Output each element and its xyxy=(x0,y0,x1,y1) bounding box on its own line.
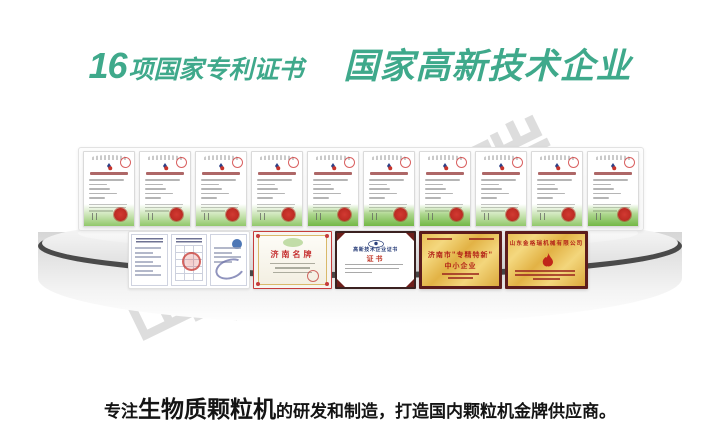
cert-crest-icon xyxy=(160,160,171,171)
cert-title-bar xyxy=(594,172,632,175)
cert-crest-icon xyxy=(384,160,395,171)
patent-certificate xyxy=(531,151,583,227)
jinan-emblem-icon xyxy=(283,238,303,247)
flame-logo-icon xyxy=(538,250,556,268)
cert-signature-icon xyxy=(91,213,107,220)
cert-signature-icon xyxy=(315,213,331,220)
company-plaque-footer xyxy=(515,270,578,282)
cert-title-bar xyxy=(146,172,184,175)
cert-signature-icon xyxy=(259,213,275,220)
tagline: 专注生物质颗粒机的研发和制造，打造国内颗粒机金牌供应商。 xyxy=(0,390,720,424)
hitech-title: 高新技术企业证书 xyxy=(337,246,414,253)
cert-red-seal-icon xyxy=(450,208,463,221)
cert-title-bar xyxy=(370,172,408,175)
plaque-top-lines xyxy=(427,238,494,240)
award-shelf: 济南名牌 高新技术企业证书 证书 济南市"专 xyxy=(128,231,588,289)
cert-signature-icon xyxy=(203,213,219,220)
award-company-plaque: 山东金格瑞机械有限公司 xyxy=(505,231,588,289)
hitech-corner-ornament xyxy=(406,233,414,241)
hitech-corner-ornament xyxy=(337,279,345,287)
jinan-title: 济南名牌 xyxy=(254,249,331,260)
cert-red-seal-icon xyxy=(226,208,239,221)
document-org-code xyxy=(210,234,247,286)
cert-title-bar xyxy=(202,172,240,175)
cert-signature-icon xyxy=(427,213,443,220)
cert-signature-icon xyxy=(483,213,499,220)
cert-red-seal-icon xyxy=(394,208,407,221)
cert-field-lines xyxy=(481,179,521,202)
patent-certificate xyxy=(419,151,471,227)
jinan-corner-dot xyxy=(256,282,260,286)
jinan-seal-icon xyxy=(307,270,319,282)
tax-header-icon xyxy=(176,238,203,243)
patent-count-label: 项国家专利证书 xyxy=(129,58,304,83)
cert-field-lines xyxy=(145,179,185,202)
cert-field-lines xyxy=(593,179,633,202)
cert-crest-icon xyxy=(496,160,507,171)
cert-field-lines xyxy=(201,179,241,202)
cert-crest-icon xyxy=(440,160,451,171)
patent-count: 16 xyxy=(88,48,126,84)
cert-field-lines xyxy=(89,179,129,202)
hitech-corner-ornament xyxy=(337,233,345,241)
cert-field-lines xyxy=(369,179,409,202)
plaque-line-1: 济南市"专精特新" xyxy=(422,250,499,260)
cert-signature-icon xyxy=(595,213,611,220)
cert-red-seal-icon xyxy=(282,208,295,221)
cert-title-bar xyxy=(538,172,576,175)
patent-certificate xyxy=(83,151,135,227)
hitech-crest-icon xyxy=(367,236,385,246)
cert-red-seal-icon xyxy=(562,208,575,221)
tagline-lead: 专注 xyxy=(104,402,138,422)
patent-certificate xyxy=(195,151,247,227)
cert-title-bar xyxy=(482,172,520,175)
cert-crest-icon xyxy=(216,160,227,171)
patent-certificate xyxy=(587,151,639,227)
promo-banner: 16 项国家专利证书 国家高新技术企业 山 东 金 格 瑞 xyxy=(0,0,720,446)
cert-round-stamp-icon xyxy=(176,157,187,168)
cert-crest-icon xyxy=(272,160,283,171)
cert-field-lines xyxy=(257,179,297,202)
cert-round-stamp-icon xyxy=(288,157,299,168)
jinan-corner-dot xyxy=(256,234,260,238)
cert-title-bar xyxy=(426,172,464,175)
cert-field-lines xyxy=(425,179,465,202)
hitech-word: 证书 xyxy=(337,254,414,264)
jinan-corner-dot xyxy=(325,282,329,286)
plaque-footer-lines xyxy=(434,273,487,281)
headline-hitech: 国家高新技术企业 xyxy=(344,49,632,84)
cert-round-stamp-icon xyxy=(344,157,355,168)
cert-crest-icon xyxy=(328,160,339,171)
business-document-panel xyxy=(128,231,250,289)
patent-certificate xyxy=(475,151,527,227)
cert-round-stamp-icon xyxy=(400,157,411,168)
cert-red-seal-icon xyxy=(338,208,351,221)
headline-row: 16 项国家专利证书 国家高新技术企业 xyxy=(0,40,720,92)
award-specialized-sme: 济南市"专精特新" 中小企业 xyxy=(419,231,502,289)
award-jinan-brand: 济南名牌 xyxy=(253,231,332,289)
cert-title-bar xyxy=(90,172,128,175)
cert-round-stamp-icon xyxy=(512,157,523,168)
jinan-corner-dot xyxy=(325,234,329,238)
certificate-wall xyxy=(78,147,644,231)
cert-red-seal-icon xyxy=(170,208,183,221)
cert-red-seal-icon xyxy=(618,208,631,221)
patent-certificate xyxy=(251,151,303,227)
hitech-body-lines xyxy=(345,264,406,275)
patent-certificate-row xyxy=(83,151,639,227)
cert-field-lines xyxy=(313,179,353,202)
cert-round-stamp-icon xyxy=(120,157,131,168)
document-business-license xyxy=(131,234,168,286)
cert-signature-icon xyxy=(147,213,163,220)
cert-round-stamp-icon xyxy=(568,157,579,168)
tagline-rest: 的研发和制造，打造国内颗粒机金牌供应商。 xyxy=(276,402,616,422)
patent-certificate xyxy=(363,151,415,227)
cert-crest-icon xyxy=(104,160,115,171)
cert-round-stamp-icon xyxy=(624,157,635,168)
plaque-line-2: 中小企业 xyxy=(422,261,499,271)
hitech-corner-ornament xyxy=(406,279,414,287)
cert-round-stamp-icon xyxy=(456,157,467,168)
cert-red-seal-icon xyxy=(114,208,127,221)
headline-patents: 16 项国家专利证书 xyxy=(88,48,303,84)
document-tax-registration xyxy=(171,234,208,286)
award-hitech-enterprise: 高新技术企业证书 证书 xyxy=(335,231,416,289)
cert-crest-icon xyxy=(552,160,563,171)
tagline-emphasis: 生物质颗粒机 xyxy=(138,397,276,423)
cert-signature-icon xyxy=(371,213,387,220)
cert-signature-icon xyxy=(539,213,555,220)
patent-certificate xyxy=(139,151,191,227)
cert-red-seal-icon xyxy=(506,208,519,221)
cert-round-stamp-icon xyxy=(232,157,243,168)
company-name-arc: 山东金格瑞机械有限公司 xyxy=(508,239,585,247)
cert-crest-icon xyxy=(608,160,619,171)
license-header-icon xyxy=(136,238,163,243)
license-text-lines xyxy=(135,247,164,279)
cert-title-bar xyxy=(258,172,296,175)
cert-field-lines xyxy=(537,179,577,202)
cert-title-bar xyxy=(314,172,352,175)
patent-certificate xyxy=(307,151,359,227)
